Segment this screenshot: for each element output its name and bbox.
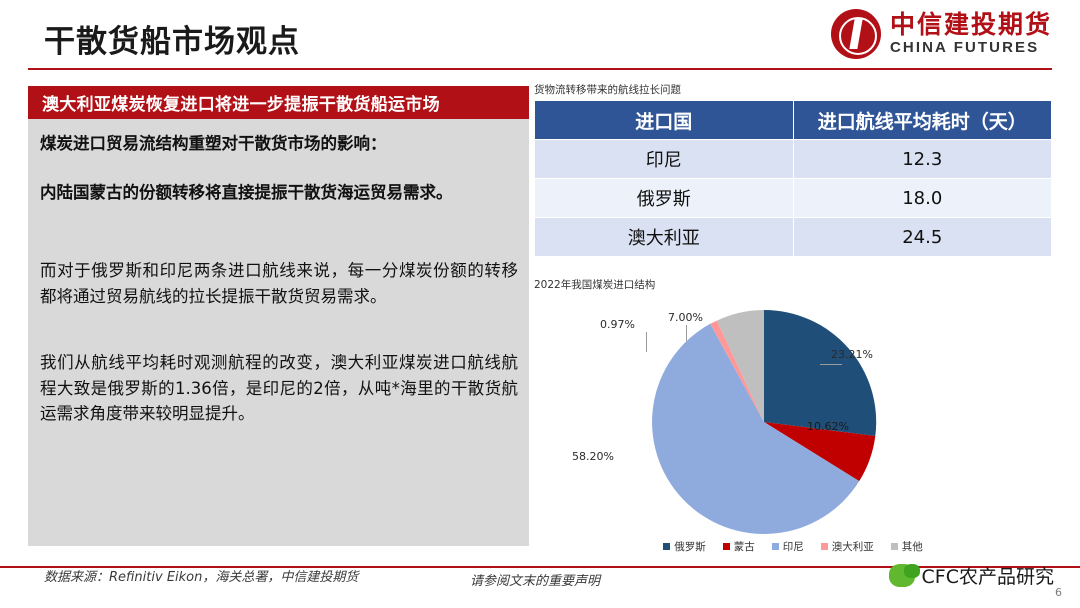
legend-swatch-icon [663,543,670,550]
legend-swatch-icon [772,543,779,550]
table-row: 澳大利亚 24.5 [535,218,1052,257]
pie-label-indonesia: 58.20% [572,450,614,463]
legend-item-australia: 澳大利亚 [821,539,874,554]
paragraph-3: 而对于俄罗斯和印尼两条进口航线来说，每一分煤炭份额的转移都将通过贸易航线的拉长提… [40,258,518,309]
table-cell-country: 俄罗斯 [535,179,794,218]
coal-import-pie-chart: 23.21% 10.62% 58.20% 0.97% 7.00% 俄罗斯 蒙古 … [534,292,1052,554]
pie-label-australia: 0.97% [600,318,635,331]
slide-header: 干散货船市场观点 中信建投期货 CHINA FUTURES [0,0,1080,70]
table-caption: 货物流转移带来的航线拉长问题 [534,82,681,97]
table-row: 印尼 12.3 [535,140,1052,179]
legend-swatch-icon [891,543,898,550]
wechat-account: CFC农产品研究 [889,562,1054,589]
highlight-banner: 澳大利亚煤炭恢复进口将进一步提振干散货船运市场 [28,86,529,119]
import-route-table: 进口国 进口航线平均耗时（天） 印尼 12.3 俄罗斯 18.0 澳大利亚 24… [534,100,1052,257]
slide: 干散货船市场观点 中信建投期货 CHINA FUTURES 澳大利亚煤炭恢复进口… [0,0,1080,608]
paragraph-1: 煤炭进口贸易流结构重塑对干散货市场的影响： [40,131,518,157]
legend-label: 澳大利亚 [832,539,874,554]
pie-label-others: 7.00% [668,311,703,324]
leader-line-australia [646,332,647,352]
legend-label: 印尼 [783,539,804,554]
table-cell-duration: 24.5 [793,218,1052,257]
legend-label: 其他 [902,539,923,554]
leader-line-russia [820,364,842,365]
brand-name-en: CHINA FUTURES [890,40,1052,56]
brand-logo: 中信建投期货 CHINA FUTURES [831,9,1052,59]
paragraph-2: 内陆国蒙古的份额转移将直接提振干散货海运贸易需求。 [40,180,518,206]
paragraph-4: 我们从航线平均耗时观测航程的改变，澳大利亚煤炭进口航线航程大致是俄罗斯的1.36… [40,350,518,427]
brand-name-cn: 中信建投期货 [890,12,1052,38]
pie-slice-russia [764,310,876,436]
chart-title: 2022年我国煤炭进口结构 [534,277,655,292]
legend-item-mongolia: 蒙古 [723,539,755,554]
legend-item-indonesia: 印尼 [772,539,804,554]
wechat-account-name: CFC农产品研究 [922,562,1054,589]
disclaimer-note: 请参阅文末的重要声明 [470,570,600,589]
legend-label: 俄罗斯 [674,539,706,554]
legend-item-russia: 俄罗斯 [663,539,706,554]
header-divider [28,68,1052,70]
page-title: 干散货船市场观点 [44,16,300,61]
legend-swatch-icon [821,543,828,550]
table-cell-duration: 12.3 [793,140,1052,179]
leader-line-others [686,325,687,341]
pie-label-russia: 23.21% [831,348,873,361]
legend-label: 蒙古 [734,539,755,554]
table-cell-country: 印尼 [535,140,794,179]
citic-circle-logo-icon [831,9,881,59]
table-row: 俄罗斯 18.0 [535,179,1052,218]
chart-legend: 俄罗斯 蒙古 印尼 澳大利亚 其他 [534,539,1052,554]
legend-swatch-icon [723,543,730,550]
brand-logo-text: 中信建投期货 CHINA FUTURES [890,12,1052,56]
table-header-row: 进口国 进口航线平均耗时（天） [535,101,1052,140]
table-cell-country: 澳大利亚 [535,218,794,257]
legend-item-others: 其他 [891,539,923,554]
table-header-country: 进口国 [535,101,794,140]
source-note: 数据来源：Refinitiv Eikon，海关总署，中信建投期货 [44,566,358,585]
pie-label-mongolia: 10.62% [807,420,849,433]
table-cell-duration: 18.0 [793,179,1052,218]
page-number: 6 [1055,586,1062,599]
wechat-icon [889,564,915,587]
table-header-duration: 进口航线平均耗时（天） [793,101,1052,140]
